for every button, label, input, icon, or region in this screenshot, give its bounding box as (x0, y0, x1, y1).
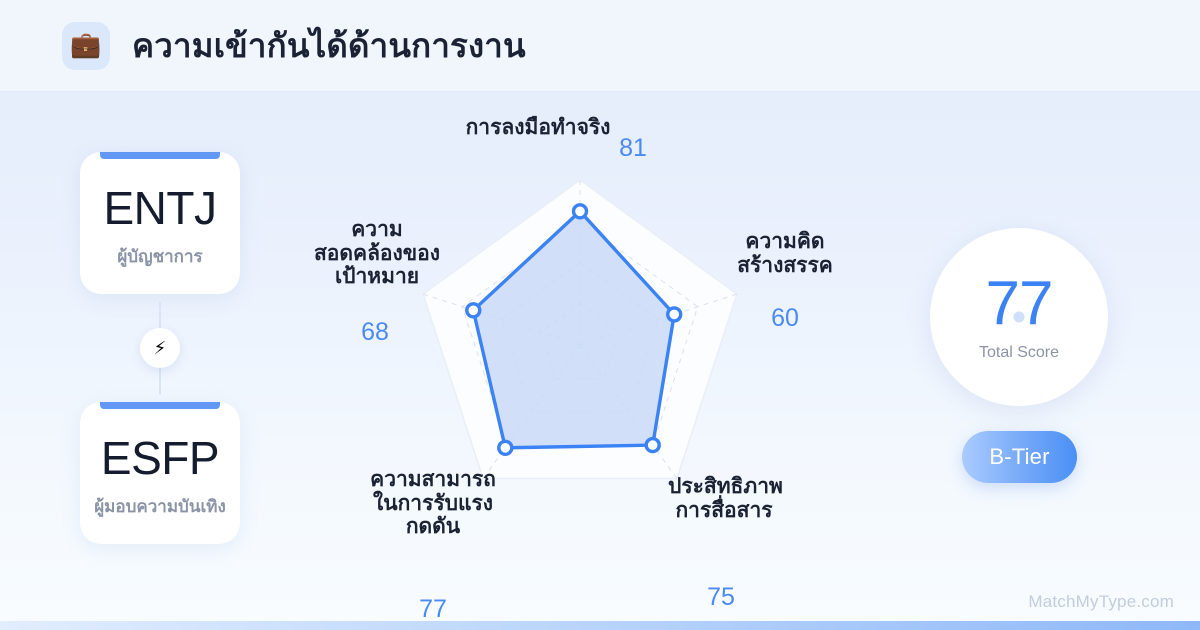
axis-label-4: ความสอดคล้องของเป้าหมาย (312, 218, 442, 289)
axis-label-0: การลงมือทำจริง (458, 116, 618, 140)
radar-point (668, 308, 681, 321)
watermark: MatchMyType.com (1028, 592, 1174, 612)
axis-value-0: 81 (610, 136, 656, 161)
axis-label-2: ประสิทธิภาพการสื่อสาร (668, 475, 780, 522)
axis-value-3: 77 (410, 597, 456, 622)
type-connector: ⚡ (80, 294, 240, 402)
card-accent-bar (100, 152, 220, 159)
radar-point (467, 304, 480, 317)
axis-label-1: ความคิดสร้างสรรค (724, 230, 846, 277)
tier-badge: B-Tier (962, 431, 1077, 483)
type-name-second: ผู้มอบความบันเทิง (94, 493, 226, 520)
total-score-circle: 77 Total Score (930, 228, 1108, 406)
radar-point (574, 205, 587, 218)
type-card-first[interactable]: ENTJ ผู้บัญชาการ (80, 152, 240, 294)
type-name-first: ผู้บัญชาการ (117, 243, 202, 270)
radar-point (499, 441, 512, 454)
bottom-accent-bar (0, 621, 1200, 630)
total-score-value: 77 (986, 273, 1053, 335)
axis-label-3: ความสามารถในการรับแรงกดดัน (368, 468, 498, 539)
type-pair-panel: ENTJ ผู้บัญชาการ ⚡ ESFP ผู้มอบความบันเทิ… (80, 152, 240, 544)
type-code-first: ENTJ (104, 185, 217, 231)
axis-value-2: 75 (698, 585, 744, 610)
radar-chart: การลงมือทำจริง 81 ความคิดสร้างสรรค 60 ปร… (300, 100, 860, 630)
axis-value-1: 60 (762, 306, 808, 331)
type-code-second: ESFP (101, 435, 219, 481)
briefcase-icon: 💼 (62, 22, 110, 70)
page-title: ความเข้ากันได้ด้านการงาน (132, 19, 526, 72)
lightning-bolt-icon: ⚡ (140, 328, 180, 368)
type-card-second[interactable]: ESFP ผู้มอบความบันเทิง (80, 402, 240, 544)
radar-point (646, 439, 659, 452)
card-accent-bar (100, 402, 220, 409)
axis-value-4: 68 (352, 320, 398, 345)
radar-chart-svg (300, 100, 860, 630)
page-header: 💼 ความเข้ากันได้ด้านการงาน (0, 0, 1200, 92)
total-score-label: Total Score (979, 344, 1059, 362)
compatibility-infographic: 💼 ความเข้ากันได้ด้านการงาน ENTJ ผู้บัญชา… (0, 0, 1200, 630)
